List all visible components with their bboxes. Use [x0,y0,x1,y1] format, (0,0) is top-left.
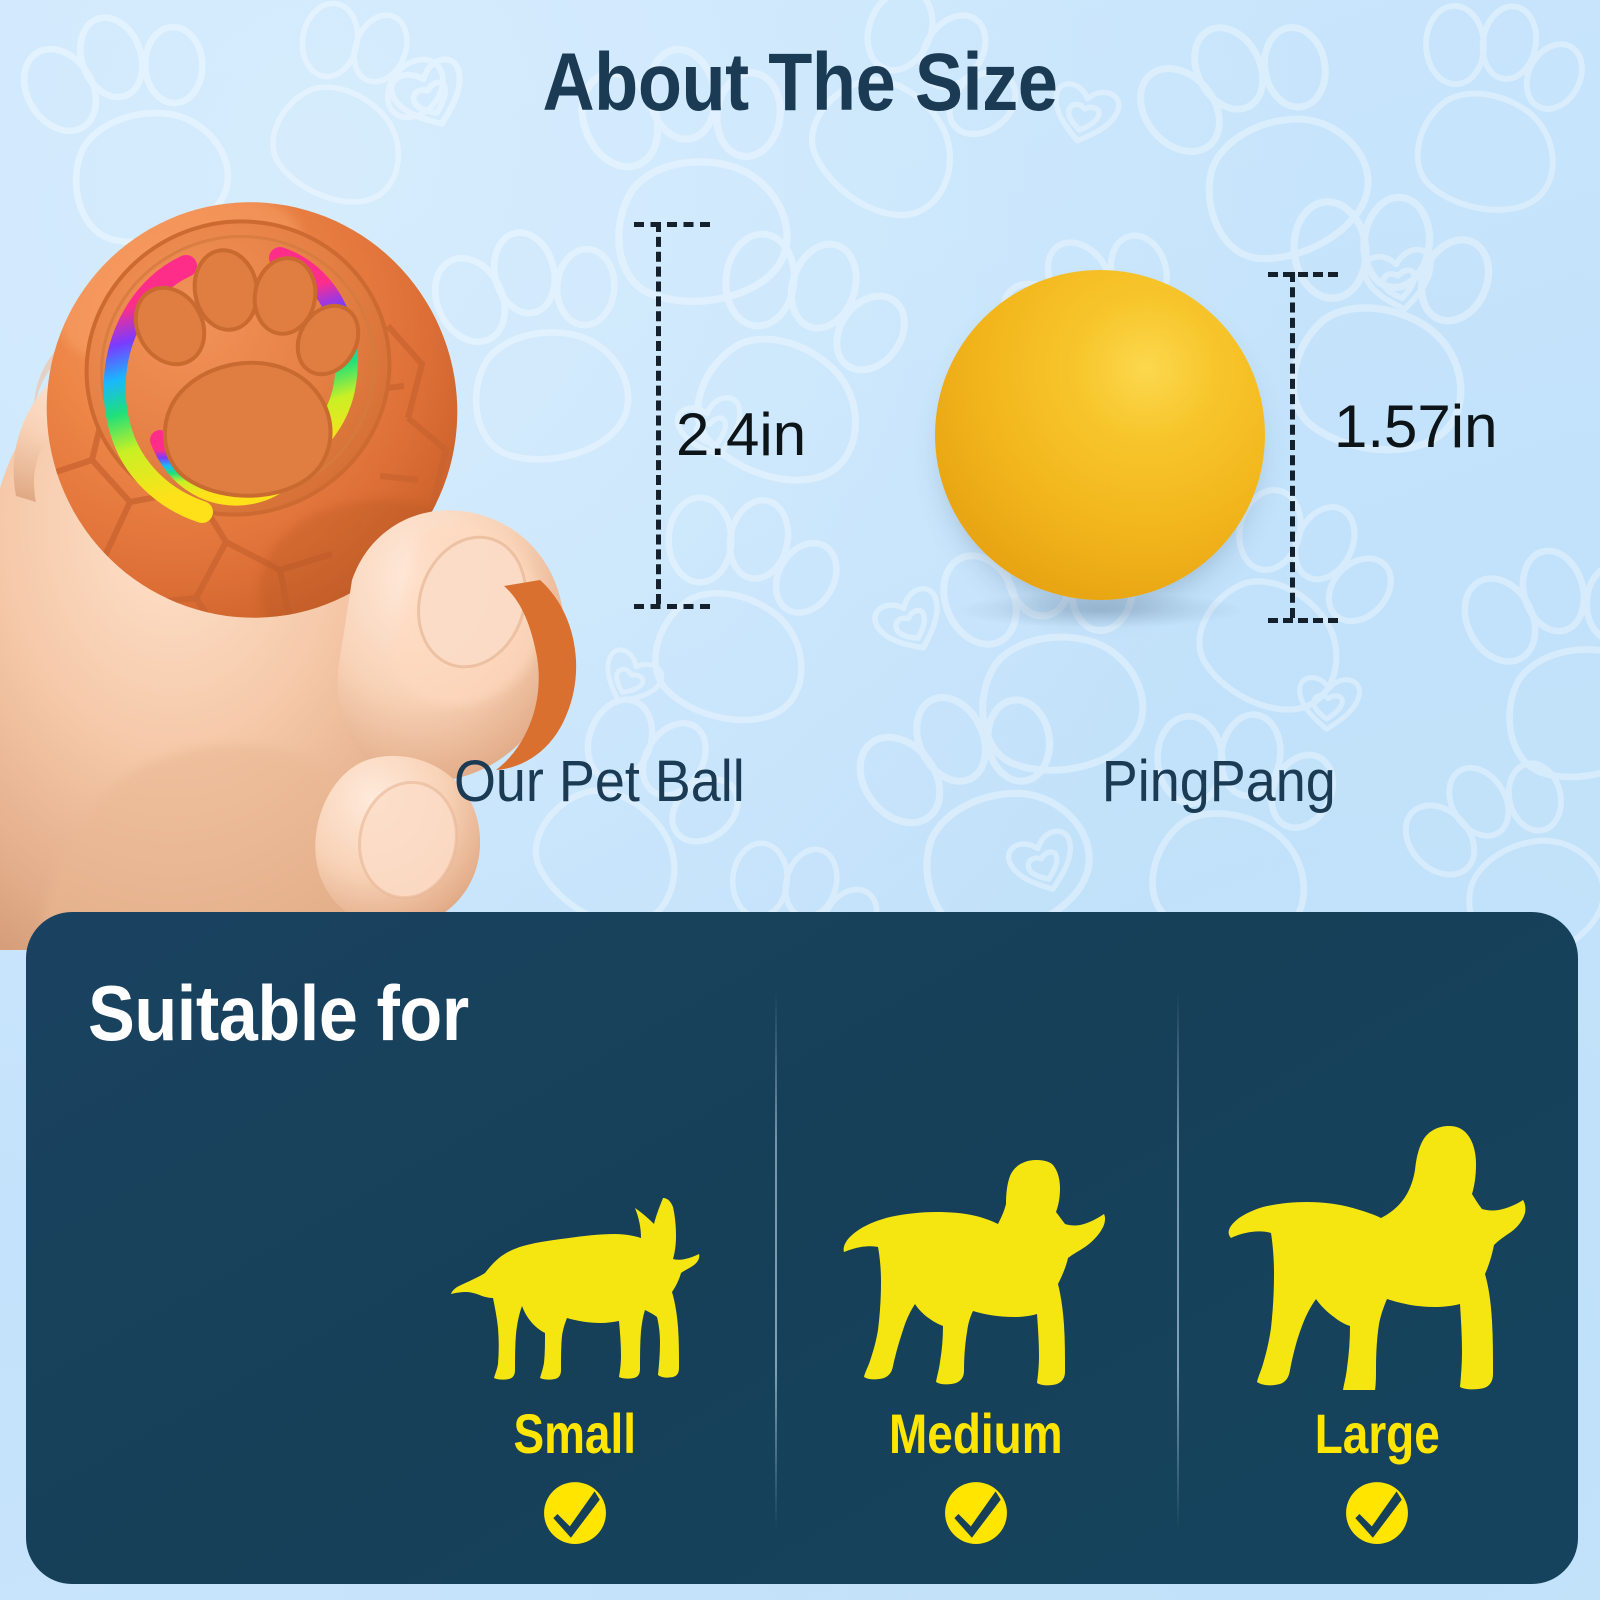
small-dog-icon [449,1092,701,1392]
size-columns: Small Medium [374,912,1578,1584]
size-column-medium[interactable]: Medium [775,912,1176,1584]
suitable-for-panel: Suitable for Small Medium [26,912,1578,1584]
checkmark-badge-medium [943,1480,1009,1546]
hand-holding-pet-ball-photo [0,150,620,950]
size-label-medium: Medium [889,1406,1062,1462]
page-title: About The Size [96,36,1504,130]
size-column-small[interactable]: Small [374,912,775,1584]
pingpang-ball [935,270,1265,600]
checkmark-badge-small [542,1480,608,1546]
pet-ball-dimension-label: 2.4in [676,400,806,469]
medium-dog-icon [840,1092,1112,1392]
pingpang-dimension-label: 1.57in [1334,392,1497,461]
caption-pingpang: PingPang [1102,748,1336,815]
size-column-large[interactable]: Large [1177,912,1578,1584]
large-dog-icon [1227,1092,1527,1392]
caption-our-pet-ball: Our Pet Ball [454,748,745,815]
size-label-large: Large [1315,1406,1440,1462]
checkmark-badge-large [1344,1480,1410,1546]
size-label-small: Small [513,1406,636,1462]
